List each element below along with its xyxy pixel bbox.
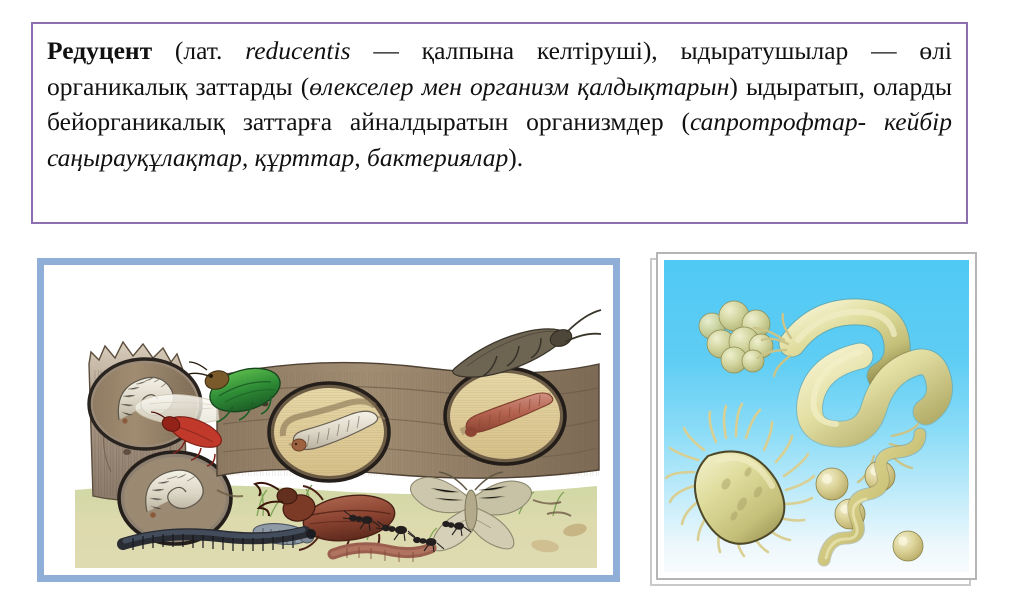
soil-decomposers-illustration <box>67 284 604 568</box>
definition-paragraph: Редуцент (лат. reducentis — қалпына келт… <box>47 33 952 175</box>
definition-italic-carcasses: өлекселер мен организм қалдықтарын <box>309 72 729 101</box>
left-figure-inner <box>51 272 606 568</box>
coccus-cluster <box>699 301 773 373</box>
right-figure-frame <box>656 252 977 580</box>
definition-seg-7: ). <box>508 143 523 172</box>
magnified-wireworm <box>445 368 565 464</box>
latin-term-reducentis: reducentis <box>245 36 350 65</box>
peritrichous-bacillus <box>666 404 814 556</box>
bacteria-illustration <box>664 260 969 572</box>
definition-seg-1: (лат. <box>152 36 245 65</box>
magnified-larva-center <box>269 383 389 481</box>
term-reducent: Редуцент <box>47 36 152 65</box>
left-figure-frame <box>37 258 620 582</box>
right-figure-inner <box>664 260 969 572</box>
definition-text-box: Редуцент (лат. reducentis — қалпына келт… <box>31 22 968 224</box>
